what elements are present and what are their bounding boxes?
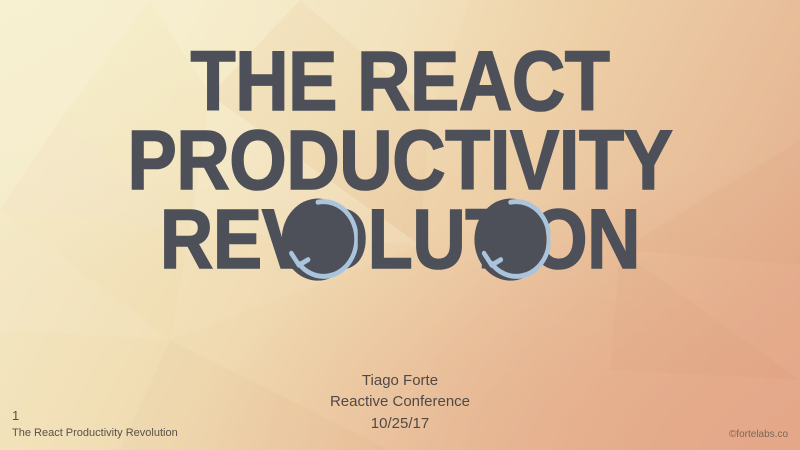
title-line-3-wrapper: REVOLUTION xyxy=(160,200,640,279)
slide-footer: 1 The React Productivity Revolution xyxy=(12,407,178,442)
title-line-1: THE REACT xyxy=(48,42,752,121)
footer-deck-title: The React Productivity Revolution xyxy=(12,426,178,442)
title-line-3: REVOLUTION xyxy=(160,192,640,286)
slide-number: 1 xyxy=(12,407,178,426)
watermark: ©fortelabs.co xyxy=(729,429,788,440)
subtitle-presenter: Tiago Forte xyxy=(0,370,800,391)
slide-title: THE REACT PRODUCTIVITY REVOLUTION xyxy=(0,42,800,279)
presentation-slide: THE REACT PRODUCTIVITY REVOLUTION xyxy=(0,0,800,450)
title-line-2: PRODUCTIVITY xyxy=(48,121,752,200)
